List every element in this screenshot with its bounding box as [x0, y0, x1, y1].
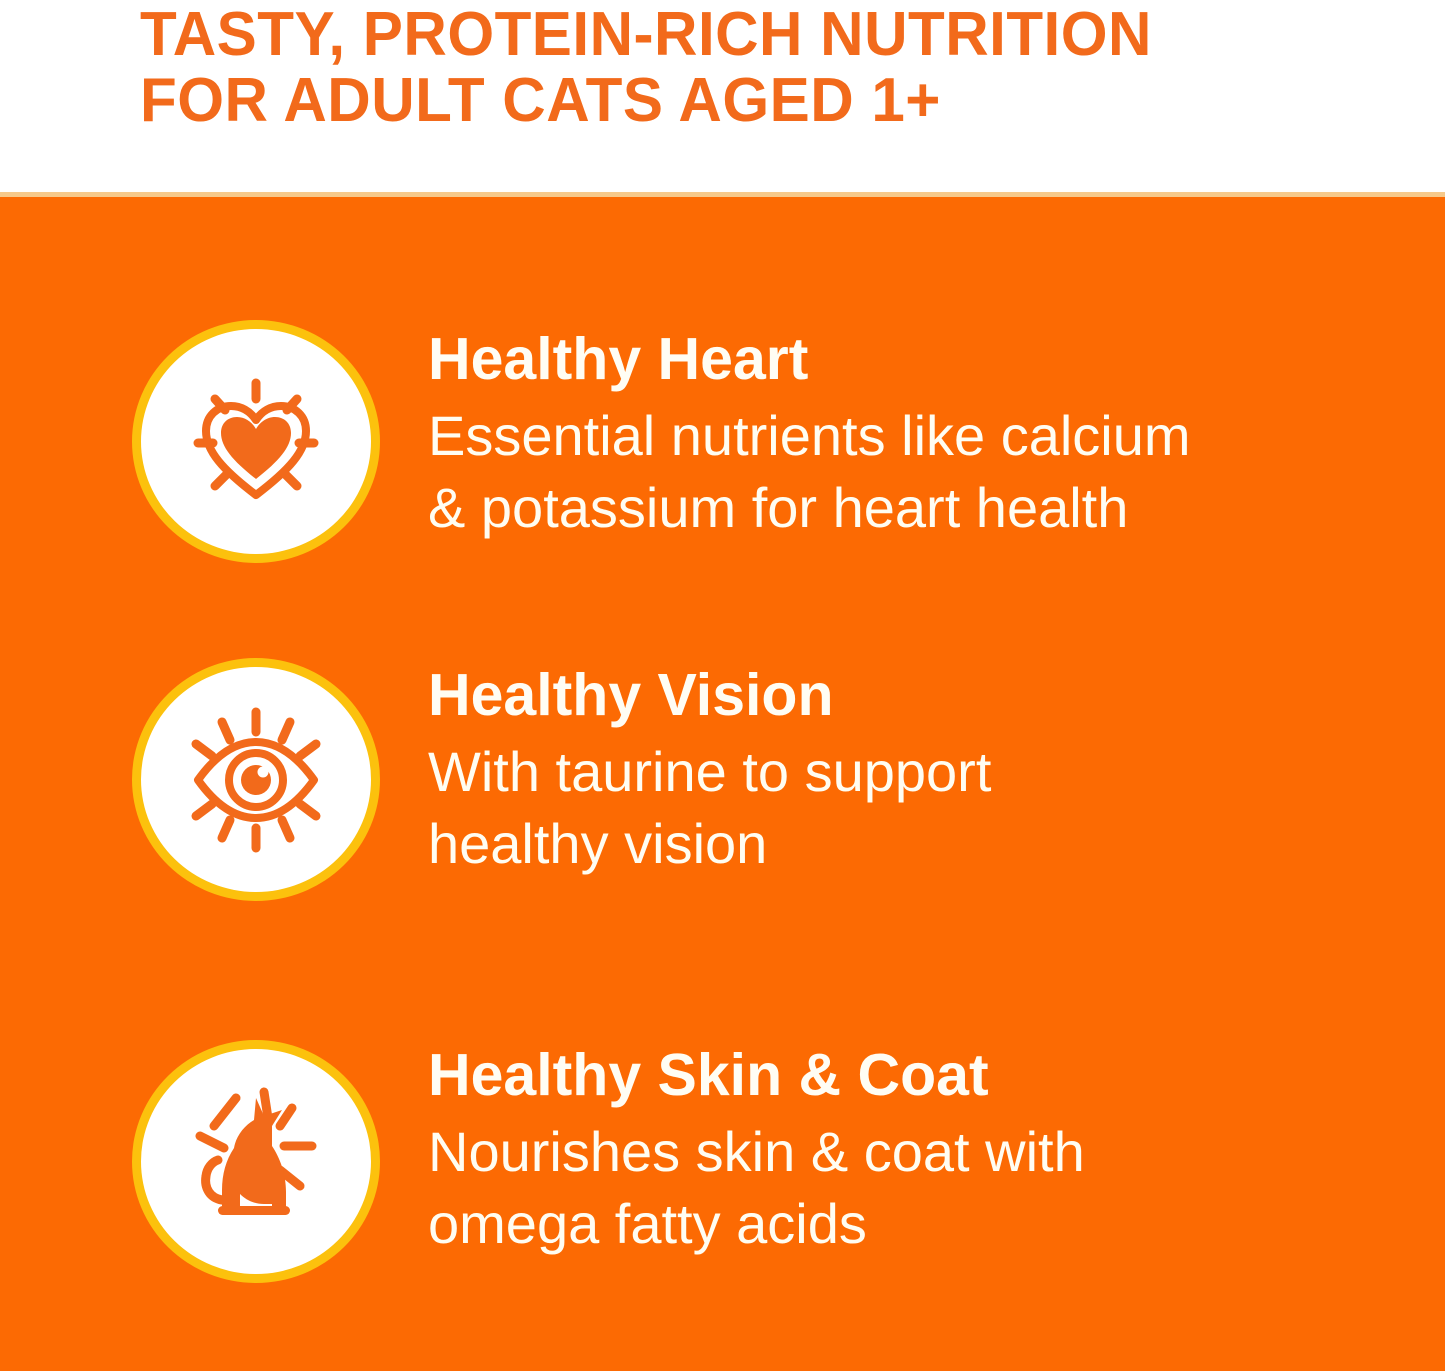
- page-title: TASTY, PROTEIN-RICH NUTRITION FOR ADULT …: [140, 2, 1343, 134]
- benefit-copy-skin-coat: Healthy Skin & Coat Nourishes skin & coa…: [428, 1044, 1328, 1260]
- benefit-description: Nourishes skin & coat with omega fatty a…: [428, 1116, 1328, 1260]
- product-benefits-graphic: TASTY, PROTEIN-RICH NUTRITION FOR ADULT …: [0, 0, 1445, 1371]
- header-band: TASTY, PROTEIN-RICH NUTRITION FOR ADULT …: [0, 0, 1445, 197]
- benefit-title: Healthy Heart: [428, 328, 1328, 390]
- benefit-title: Healthy Vision: [428, 664, 1328, 726]
- benefit-copy-vision: Healthy Vision With taurine to support h…: [428, 664, 1328, 880]
- benefit-row-healthy-skin-coat: Healthy Skin & Coat Nourishes skin & coa…: [0, 1040, 1445, 1290]
- benefit-row-healthy-heart: Healthy Heart Essential nutrients like c…: [0, 320, 1445, 570]
- radiant-eye-icon: [176, 700, 336, 860]
- benefit-copy-heart: Healthy Heart Essential nutrients like c…: [428, 328, 1328, 544]
- radiant-heart-icon: [181, 367, 331, 517]
- benefit-title: Healthy Skin & Coat: [428, 1044, 1328, 1106]
- benefit-row-healthy-vision: Healthy Vision With taurine to support h…: [0, 658, 1445, 908]
- benefits-panel: Healthy Heart Essential nutrients like c…: [0, 197, 1445, 1371]
- benefit-badge-heart: [132, 320, 380, 563]
- benefit-description: With taurine to support healthy vision: [428, 736, 1328, 880]
- benefit-description: Essential nutrients like calcium & potas…: [428, 400, 1328, 544]
- benefit-badge-cat: [132, 1040, 380, 1283]
- benefit-badge-eye: [132, 658, 380, 901]
- radiant-cat-icon: [176, 1082, 336, 1242]
